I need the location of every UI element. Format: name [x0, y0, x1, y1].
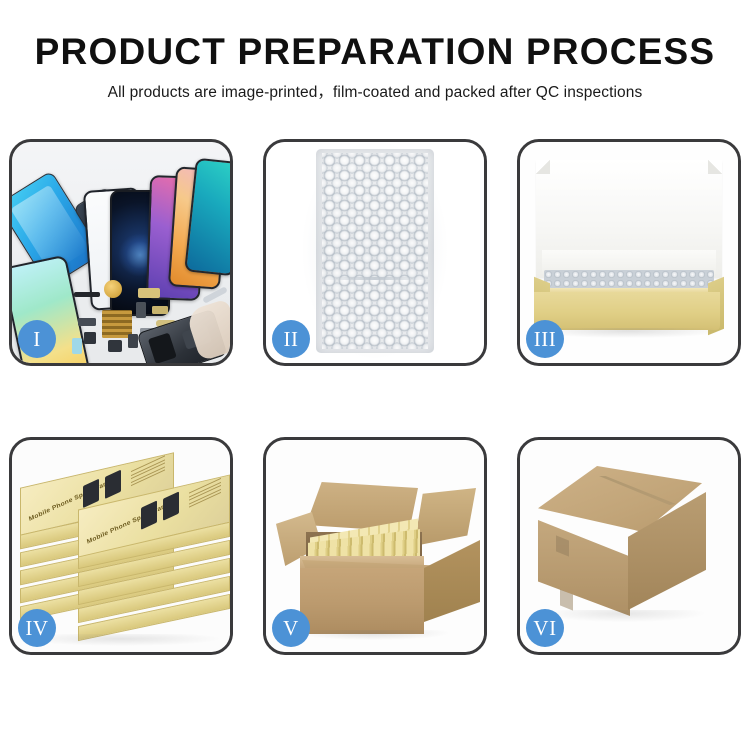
step-panel-5[interactable]: V [263, 437, 487, 655]
bubble-seam [320, 277, 430, 280]
step-badge-5: V [272, 609, 310, 647]
process-steps-grid: I II [9, 139, 741, 682]
box-spec-lines-back [131, 455, 165, 488]
box-thumb-back-1 [83, 479, 99, 508]
bracket-part [78, 318, 96, 326]
bubble-grid-layer-2 [322, 153, 428, 349]
box-front-kraft [534, 292, 720, 330]
box-label-front: Mobile Phone Spare Parts [86, 501, 170, 546]
box-spec-lines-front [189, 478, 221, 510]
chip-part [136, 302, 146, 318]
step-panel-1[interactable]: I [9, 139, 233, 366]
page-subtitle: All products are image-printed，film-coat… [0, 74, 750, 102]
flex-cable-part [74, 292, 100, 297]
step-panel-6[interactable]: VI [517, 437, 741, 655]
gold-contact-part [152, 306, 168, 314]
bubble-wrap-pouch [316, 149, 434, 353]
sealed-carton-shadow [544, 610, 704, 622]
carton-right-flap [414, 488, 476, 546]
camera-module-part [104, 280, 122, 298]
step-badge-1: I [18, 320, 56, 358]
step-panel-4[interactable]: Mobile Phone Spare Parts Mobile Phone Sp… [9, 437, 233, 655]
box-thumb-back-2 [105, 470, 121, 499]
carton-side-face [424, 540, 480, 622]
step-badge-2: II [272, 320, 310, 358]
step-badge-3: III [526, 320, 564, 358]
step-badge-4: IV [18, 609, 56, 647]
carton-front-face [300, 568, 424, 634]
page-title: PRODUCT PREPARATION PROCESS [0, 0, 750, 74]
step-badge-6: VI [526, 609, 564, 647]
box-thumb-front-2 [163, 491, 179, 520]
sealed-carton-left-face [538, 520, 630, 616]
step-panel-3[interactable]: III [517, 139, 741, 366]
page-header: PRODUCT PREPARATION PROCESS All products… [0, 0, 750, 102]
small-ic-part [84, 332, 96, 344]
sim-tray-part [72, 338, 82, 354]
connector-strip-part [138, 288, 160, 298]
box-thumb-front-1 [141, 500, 157, 529]
speaker-part [108, 340, 122, 352]
carton-shadow [298, 630, 448, 640]
vibrator-part [128, 334, 138, 348]
step-panel-2[interactable]: II [263, 139, 487, 366]
